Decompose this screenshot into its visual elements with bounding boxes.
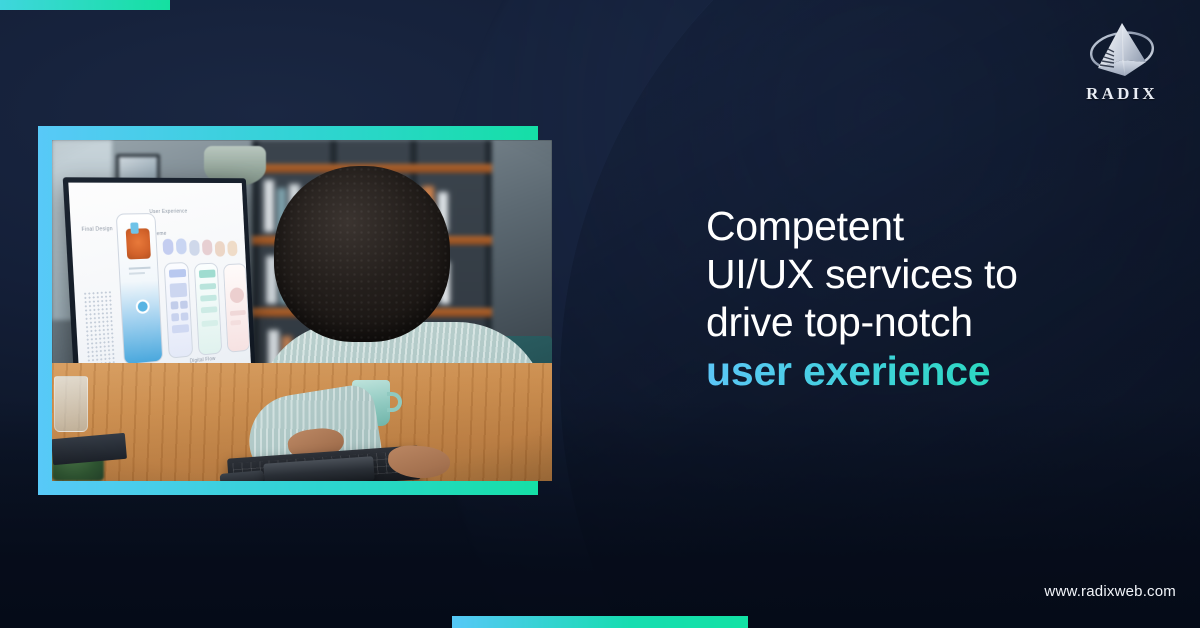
screen-chip bbox=[162, 239, 173, 255]
screen-mock-phone-variant bbox=[194, 263, 222, 356]
screen-chip bbox=[215, 241, 226, 257]
hero-photo: Final Design User Experience Theme Digit… bbox=[52, 140, 552, 481]
screen-mock-phone-variant bbox=[164, 262, 193, 359]
radix-pyramid-logo-icon bbox=[1081, 18, 1163, 82]
screen-chip bbox=[176, 238, 187, 254]
top-accent-bar bbox=[0, 0, 170, 10]
website-url[interactable]: www.radixweb.com bbox=[1044, 583, 1176, 600]
headline-line-1: Competent bbox=[706, 202, 1126, 250]
brand-wordmark: RADIX bbox=[1086, 84, 1158, 104]
screen-chip bbox=[189, 240, 200, 256]
headline-accent-line: user exerience bbox=[706, 346, 1126, 396]
headline-line-2: UI/UX services to bbox=[706, 250, 1126, 298]
photo-drinking-glass bbox=[54, 376, 88, 432]
screen-label-final-design: Final Design bbox=[81, 226, 114, 233]
screen-mock-phone-main bbox=[116, 213, 163, 365]
screen-mock-phone-variant bbox=[223, 263, 250, 353]
brand-logo[interactable]: RADIX bbox=[1066, 18, 1178, 110]
headline-line-3: drive top-notch bbox=[706, 298, 1126, 346]
screen-chip bbox=[202, 239, 213, 255]
screen-chip bbox=[227, 241, 237, 257]
headline-block: Competent UI/UX services to drive top-no… bbox=[706, 202, 1126, 396]
screen-label-user-experience: User Experience bbox=[149, 209, 187, 216]
screen-dot-grid bbox=[83, 290, 116, 371]
marketing-banner: RADIX bbox=[0, 0, 1200, 628]
bottom-accent-bar bbox=[452, 616, 748, 628]
photo-person-hair bbox=[274, 166, 450, 342]
photo-frame-border: Final Design User Experience Theme Digit… bbox=[38, 126, 538, 495]
